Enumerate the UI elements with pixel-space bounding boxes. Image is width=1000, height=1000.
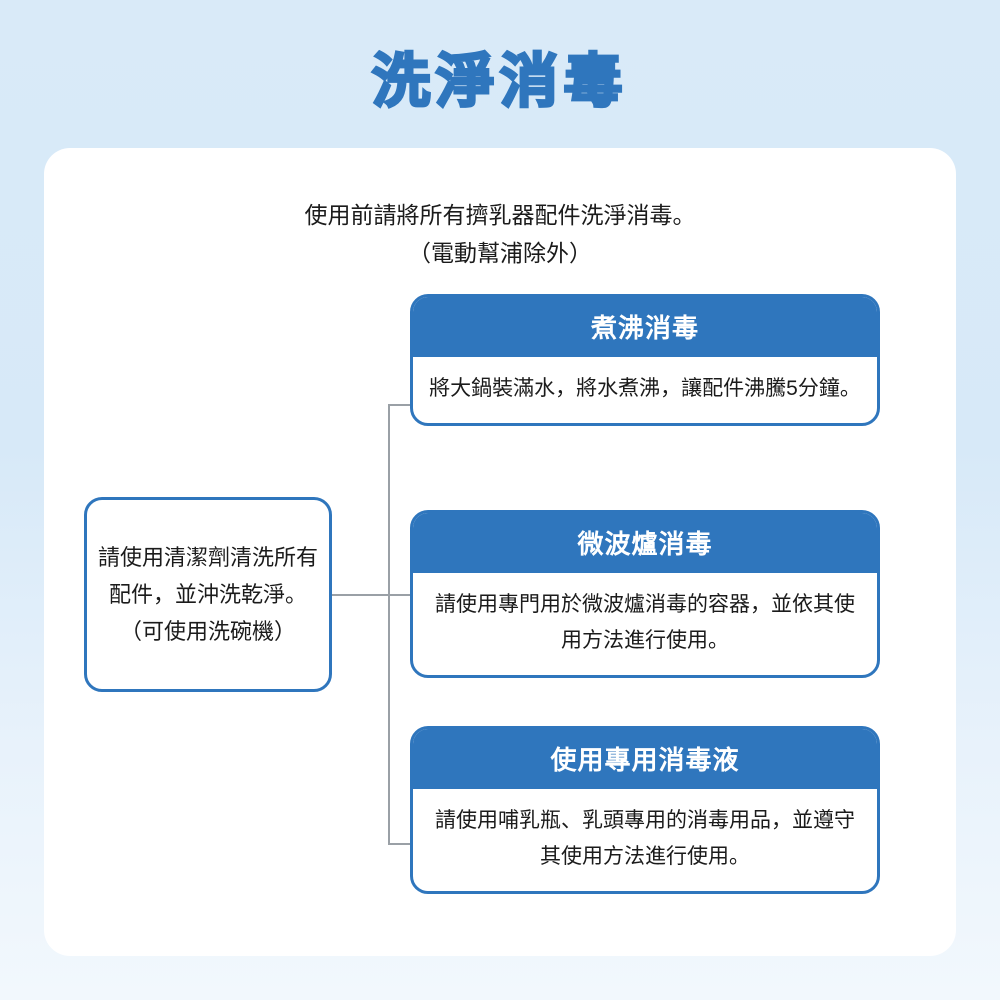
step-heading-sterilizing-solution: 使用專用消毒液 [413, 729, 877, 789]
step-box-sterilizing-solution: 使用專用消毒液 請使用哺乳瓶、乳頭專用的消毒用品，並遵守其使用方法進行使用。 [410, 726, 880, 894]
step-heading-boiling: 煮沸消毒 [413, 297, 877, 357]
connector-branch-2 [388, 594, 412, 596]
step-heading-microwave: 微波爐消毒 [413, 513, 877, 573]
intro-line-1: 使用前請將所有擠乳器配件洗淨消毒。 [44, 196, 956, 234]
step-body-microwave: 請使用專門用於微波爐消毒的容器，並依其使用方法進行使用。 [413, 573, 877, 675]
source-step-text: 請使用清潔劑清洗所有配件，並沖洗乾淨。（可使用洗碗機） [87, 539, 329, 650]
connector-branch-3 [388, 843, 412, 845]
source-step-box: 請使用清潔劑清洗所有配件，並沖洗乾淨。（可使用洗碗機） [84, 497, 332, 692]
connector-branch-1 [388, 404, 412, 406]
connector-trunk-vertical [388, 404, 390, 844]
step-box-microwave: 微波爐消毒 請使用專門用於微波爐消毒的容器，並依其使用方法進行使用。 [410, 510, 880, 678]
step-body-sterilizing-solution: 請使用哺乳瓶、乳頭專用的消毒用品，並遵守其使用方法進行使用。 [413, 789, 877, 891]
intro-line-2: （電動幫浦除外） [44, 234, 956, 272]
step-body-boiling: 將大鍋裝滿水，將水煮沸，讓配件沸騰5分鐘。 [413, 357, 877, 423]
poster-page: 洗淨消毒 使用前請將所有擠乳器配件洗淨消毒。 （電動幫浦除外） 請使用清潔劑清洗… [0, 0, 1000, 1000]
step-box-boiling: 煮沸消毒 將大鍋裝滿水，將水煮沸，讓配件沸騰5分鐘。 [410, 294, 880, 426]
content-card: 使用前請將所有擠乳器配件洗淨消毒。 （電動幫浦除外） 請使用清潔劑清洗所有配件，… [44, 148, 956, 956]
page-title: 洗淨消毒 [0, 34, 1000, 118]
intro-text: 使用前請將所有擠乳器配件洗淨消毒。 （電動幫浦除外） [44, 196, 956, 272]
connector-trunk-horizontal [332, 594, 388, 596]
